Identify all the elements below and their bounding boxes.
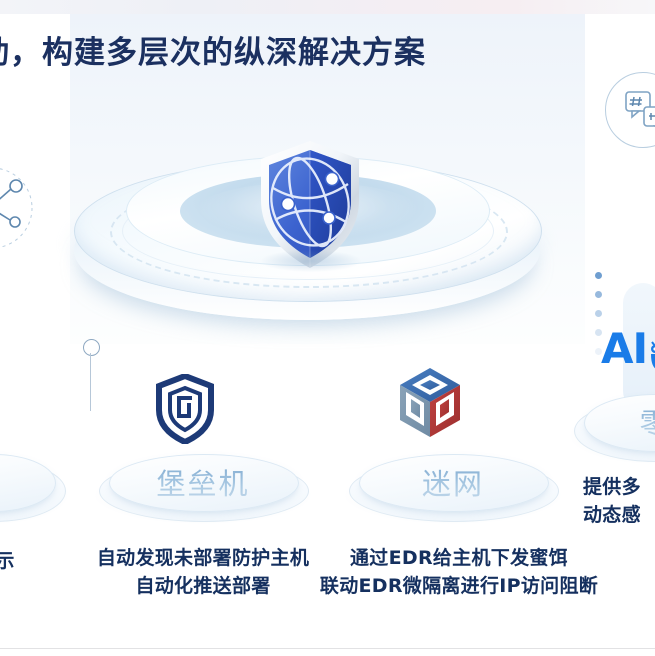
page-title: 动，构建多层次的纵深解决方案 — [0, 27, 538, 72]
background-top-gradient — [0, 0, 655, 14]
shield-drop-shadow — [261, 250, 361, 272]
node-label: 堡垒机 — [95, 454, 311, 510]
node-label: 迷网 — [345, 454, 561, 510]
decoration-mid-stem — [90, 353, 91, 411]
decoration-mid-pin — [80, 333, 102, 413]
ai-badge: AI — [601, 328, 655, 370]
decoration-top-right-bubble — [605, 72, 655, 162]
node-honeynet[interactable]: 迷网 — [345, 452, 561, 528]
node-honeynet-caption: 通过EDR给主机下发蜜饵 联动EDR微隔离进行IP访问阻断 — [296, 545, 622, 600]
dot-3 — [595, 310, 602, 317]
dot-1 — [595, 272, 602, 279]
node-bastion[interactable]: 堡垒机 — [95, 452, 311, 528]
node-zerotrust-caption: 提供多 动态感 — [583, 474, 641, 529]
honeynet-cube-icon — [396, 366, 464, 440]
bastion-shield-maze-icon — [156, 374, 214, 444]
node-label: 零 — [570, 394, 655, 450]
network-node-icon — [0, 162, 50, 254]
center-shield-group — [253, 138, 368, 273]
node-zerotrust-caption-line2: 动态感 — [583, 502, 641, 530]
node-honeynet-caption-line1: 通过EDR给主机下发蜜饵 — [296, 545, 622, 573]
node-label — [0, 454, 68, 510]
dot-2 — [595, 291, 602, 298]
node-zerotrust-caption-line1: 提供多 — [583, 474, 641, 502]
decoration-left-network-pin — [0, 162, 50, 362]
circle-pin-icon — [83, 339, 100, 356]
node-left-clipped[interactable] — [0, 452, 68, 528]
chat-hash-icon — [625, 90, 655, 134]
ai-robot-icon — [647, 335, 655, 369]
ai-badge-label: AI — [601, 324, 647, 373]
bottom-divider — [0, 648, 655, 649]
node-zerotrust-clipped[interactable]: 零 — [570, 392, 655, 468]
node-honeynet-caption-line2: 联动EDR微隔离进行IP访问阻断 — [296, 573, 622, 601]
